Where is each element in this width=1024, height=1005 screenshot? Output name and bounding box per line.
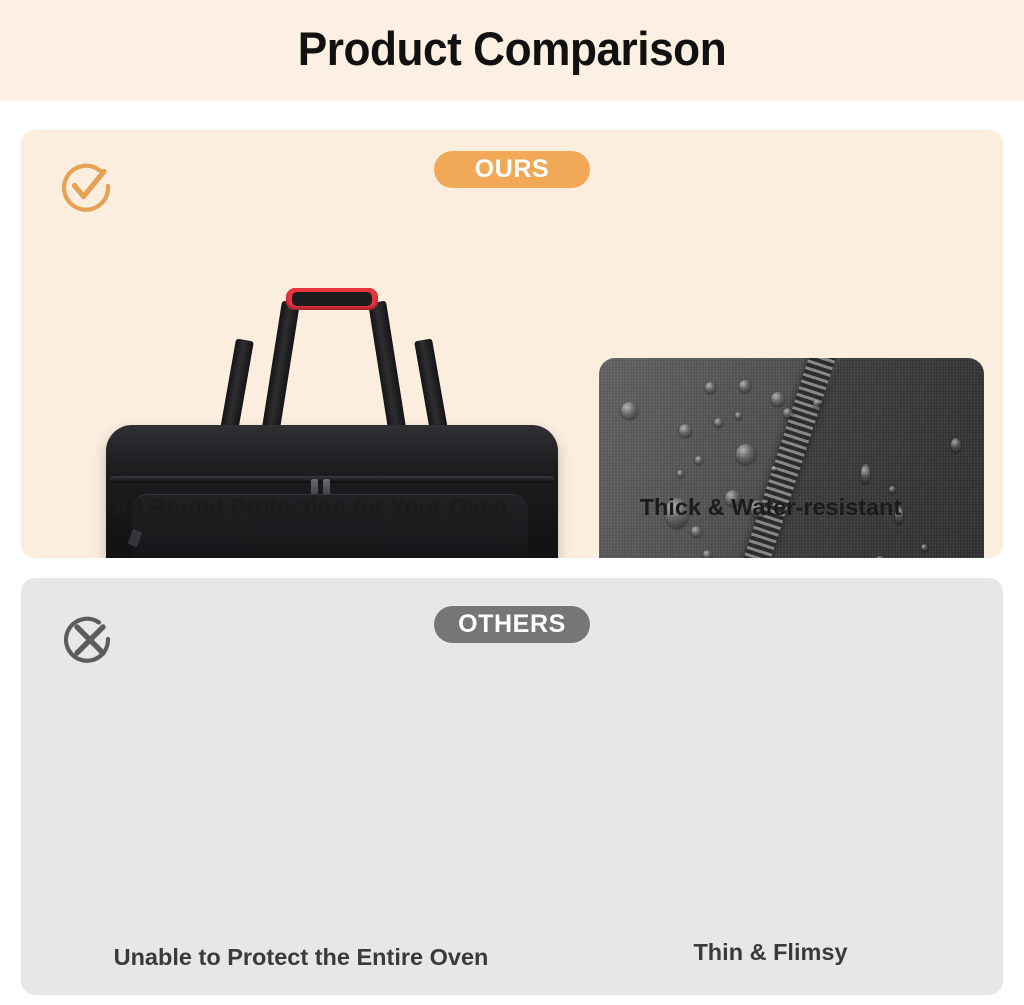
caption-all-round-protection: All Round Protection for Your Oven — [60, 494, 560, 521]
water-droplet — [739, 380, 751, 392]
water-resistant-fabric-photo — [599, 358, 984, 558]
water-droplet — [951, 438, 961, 452]
page-title: Product Comparison — [31, 21, 994, 76]
water-droplet — [621, 402, 638, 419]
water-droplet — [875, 556, 886, 558]
water-droplet — [783, 408, 793, 418]
water-droplet — [677, 470, 684, 477]
cross-circle-icon — [58, 608, 120, 670]
water-droplet — [695, 456, 703, 464]
bag-lid-zipper-seam — [110, 476, 554, 483]
badge-ours: OURS — [434, 151, 590, 188]
water-droplet — [703, 550, 712, 558]
fabric-zipper — [712, 358, 848, 558]
caption-thick-water-resistant: Thick & Water-resistant — [578, 494, 963, 521]
water-droplet — [771, 392, 785, 406]
caption-thin-flimsy: Thin & Flimsy — [578, 939, 963, 966]
water-droplet — [705, 382, 716, 393]
water-droplet — [735, 412, 742, 419]
water-droplet — [714, 418, 723, 427]
badge-others-label: OTHERS — [458, 610, 566, 639]
check-circle-icon — [55, 155, 117, 217]
bag-handle-grip-core — [292, 292, 372, 306]
water-droplet — [736, 444, 756, 464]
water-droplet — [921, 544, 928, 551]
caption-unable-to-protect: Unable to Protect the Entire Oven — [55, 944, 547, 971]
water-droplet — [771, 466, 777, 472]
water-droplet — [691, 526, 702, 537]
badge-ours-label: OURS — [475, 155, 550, 184]
water-droplet — [679, 424, 692, 437]
water-droplet — [861, 464, 870, 484]
water-droplet — [813, 400, 821, 408]
badge-others: OTHERS — [434, 606, 590, 643]
water-droplet — [889, 486, 896, 493]
